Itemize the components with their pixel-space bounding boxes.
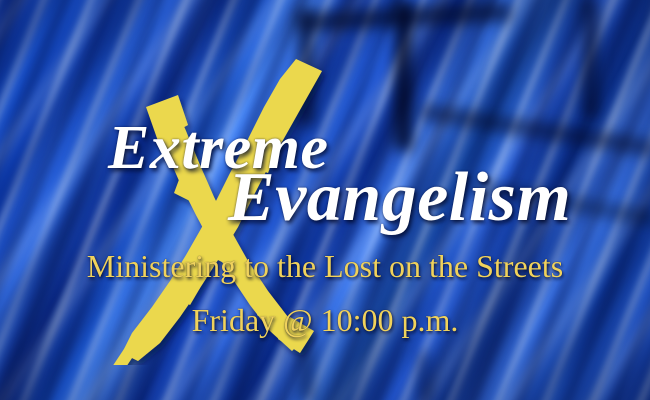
event-banner: Extreme Evangelism Ministering to the Lo… xyxy=(0,0,650,400)
tagline-line-1: Ministering to the Lost on the Streets xyxy=(0,248,650,285)
tagline-line-2: Friday @ 10:00 p.m. xyxy=(0,302,650,339)
background-vignette xyxy=(0,0,650,400)
